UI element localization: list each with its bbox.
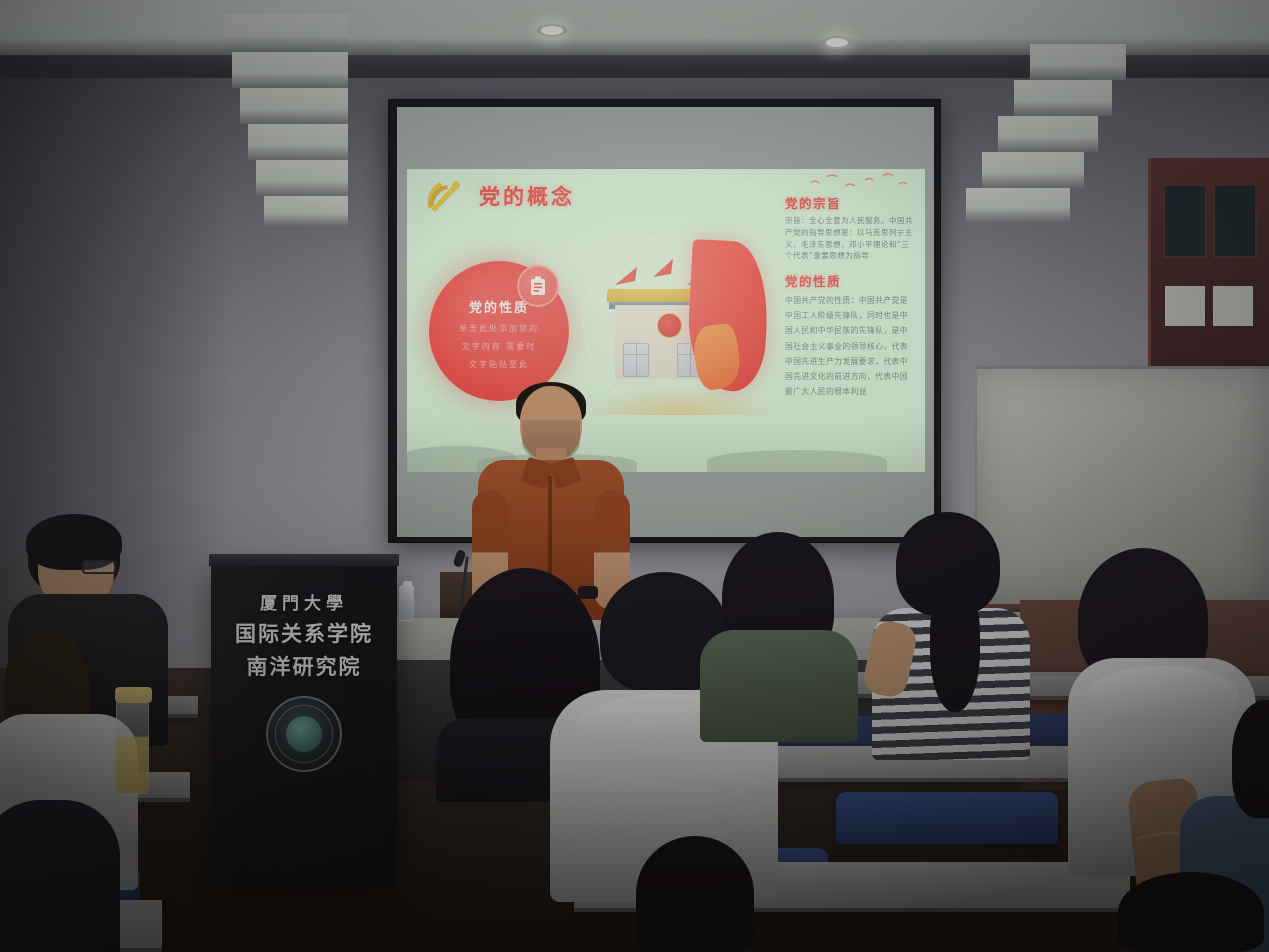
wooden-door-frame	[1148, 158, 1269, 370]
circle-line-2: 文字内容 需要时	[429, 341, 569, 352]
podium-institute-name: 南洋研究院	[211, 651, 397, 681]
door-pane	[1163, 184, 1207, 258]
podium: 厦門大學 国际关系学院 南洋研究院	[211, 563, 397, 889]
thermos-bottle-yellow-cap	[116, 700, 149, 794]
wall-panel-step	[224, 14, 348, 52]
wall-panel-step	[966, 188, 1070, 222]
classroom-photo-scene: 党的概念 党的性质 单击此处添加您的 文字内容 需要时	[0, 0, 1269, 952]
door-panel-light	[1165, 286, 1205, 326]
student-far-right-edge	[1232, 700, 1269, 830]
gate-door	[623, 343, 649, 377]
student-navy-bottom-left	[0, 800, 120, 952]
podium-school-name: 国际关系学院	[211, 618, 397, 648]
circle-line-1: 单击此处添加您的	[429, 323, 569, 334]
wall-panel-step	[264, 196, 348, 226]
wall-panel-step	[998, 116, 1098, 152]
downlight-right-icon	[822, 36, 852, 49]
wall-panel-step	[1014, 80, 1112, 116]
wall-panel-step	[256, 160, 348, 196]
door-panel-light	[1213, 286, 1253, 326]
student-green-shirt	[700, 532, 860, 742]
glasses-icon	[82, 560, 116, 574]
downlight-left-icon	[537, 24, 567, 37]
chair	[836, 792, 1058, 844]
section-body-purpose: 宗旨：全心全意为人民服务。中国共产党的指导思想是：以马克思列宁主义、毛泽东思想、…	[785, 215, 915, 262]
section-heading-nature: 党的性质	[785, 271, 915, 290]
wall-panel-step	[1030, 44, 1126, 80]
door-pane	[1213, 184, 1257, 258]
podium-university-name: 厦門大學	[211, 589, 397, 614]
slide-text-column: 党的宗旨 宗旨：全心全意为人民服务。中国共产党的指导思想是：以马克思列宁主义、毛…	[785, 193, 915, 408]
wall-panel-step	[982, 152, 1084, 188]
wall-panel-step	[240, 88, 348, 124]
wall-panel-step	[248, 124, 348, 160]
section-body-nature: 中国共产党的性质：中国共产党是中国工人阶级先锋队，同时也是中国人民和中华民族的先…	[785, 293, 915, 399]
circle-line-3: 文字贴贴至此	[429, 359, 569, 370]
hammer-and-sickle-emblem	[421, 175, 465, 215]
wall-panel-step	[232, 52, 348, 88]
national-emblem-icon	[657, 313, 682, 338]
clipboard-icon	[517, 265, 559, 307]
student-striped-shirt	[872, 512, 1032, 760]
student-front-center-head	[636, 836, 756, 952]
plastic-water-bottle	[399, 585, 414, 621]
university-seal-logo	[266, 696, 342, 772]
slide-title: 党的概念	[479, 181, 575, 211]
section-heading-purpose: 党的宗旨	[785, 193, 915, 212]
